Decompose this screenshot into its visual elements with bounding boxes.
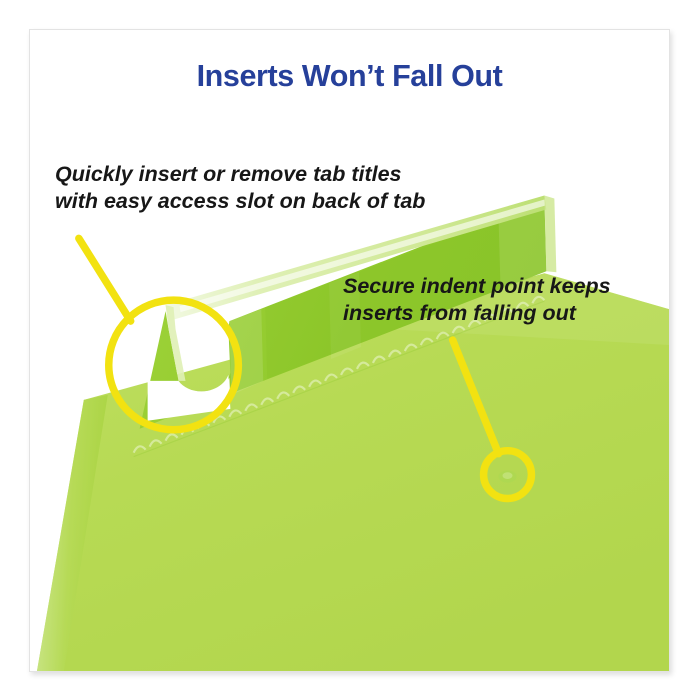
product-photograph bbox=[30, 30, 669, 671]
product-feature-image: Inserts Won’t Fall Out Quickly insert or… bbox=[0, 0, 700, 700]
indent-annotation-line1: Secure indent point keeps bbox=[343, 274, 611, 298]
slot-annotation-line1: Quickly insert or remove tab titles bbox=[55, 162, 402, 186]
indent-annotation: Secure indent point keeps inserts from f… bbox=[343, 273, 611, 327]
page-title: Inserts Won’t Fall Out bbox=[30, 59, 669, 94]
slot-annotation: Quickly insert or remove tab titles with… bbox=[55, 161, 425, 215]
product-card: Inserts Won’t Fall Out Quickly insert or… bbox=[29, 29, 670, 672]
secure-indent-point bbox=[499, 471, 517, 483]
indent-annotation-line2: inserts from falling out bbox=[343, 300, 611, 327]
slot-annotation-line2: with easy access slot on back of tab bbox=[55, 188, 425, 215]
